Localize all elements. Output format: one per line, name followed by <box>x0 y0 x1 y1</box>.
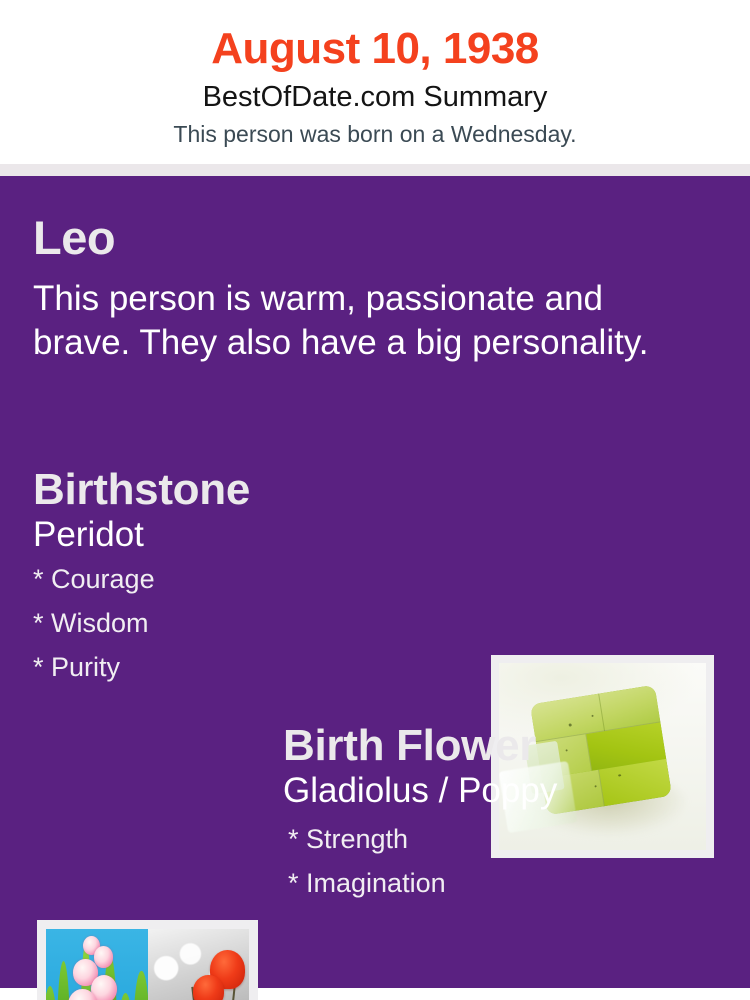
gladiolus-bloom <box>94 946 113 967</box>
birth-flower-image <box>46 929 249 1000</box>
leaf-shape <box>57 961 70 1000</box>
list-item: * Strength <box>288 826 733 853</box>
zodiac-description: This person is warm, passionate and brav… <box>33 277 681 366</box>
list-item: * Purity <box>33 654 473 681</box>
list-item: * Imagination <box>288 870 733 897</box>
zodiac-section: Leo This person is warm, passionate and … <box>33 214 693 366</box>
page-title-date: August 10, 1938 <box>0 24 750 73</box>
birth-flower-name: Gladiolus / Poppy <box>283 771 733 810</box>
leaf-shape <box>133 971 147 1000</box>
weekday-statement: This person was born on a Wednesday. <box>0 120 750 150</box>
list-item: * Courage <box>33 566 473 593</box>
zodiac-sign-name: Leo <box>33 214 693 261</box>
site-name-subtitle: BestOfDate.com Summary <box>0 79 750 116</box>
birthstone-heading: Birthstone <box>33 468 473 513</box>
list-item: * Wisdom <box>33 610 473 637</box>
leaf-shape <box>46 986 58 1000</box>
birth-flower-section: Birth Flower Gladiolus / Poppy * Strengt… <box>283 724 733 914</box>
birth-flower-image-frame <box>37 920 258 1000</box>
poppy-photo-half <box>148 929 250 1000</box>
poppy-bloom <box>193 975 223 1000</box>
birth-flower-trait-list: * Strength * Imagination <box>283 826 733 897</box>
leaf-shape <box>117 993 134 1000</box>
header-divider <box>0 164 750 176</box>
birthstone-name: Peridot <box>33 515 473 554</box>
birth-flower-heading: Birth Flower <box>283 724 733 769</box>
summary-panel: Leo This person is warm, passionate and … <box>0 176 750 988</box>
birthstone-section: Birthstone Peridot * Courage * Wisdom * … <box>33 468 473 698</box>
page-header: August 10, 1938 BestOfDate.com Summary T… <box>0 0 750 176</box>
gladiolus-photo-half <box>46 929 148 1000</box>
birthstone-trait-list: * Courage * Wisdom * Purity <box>33 566 473 681</box>
